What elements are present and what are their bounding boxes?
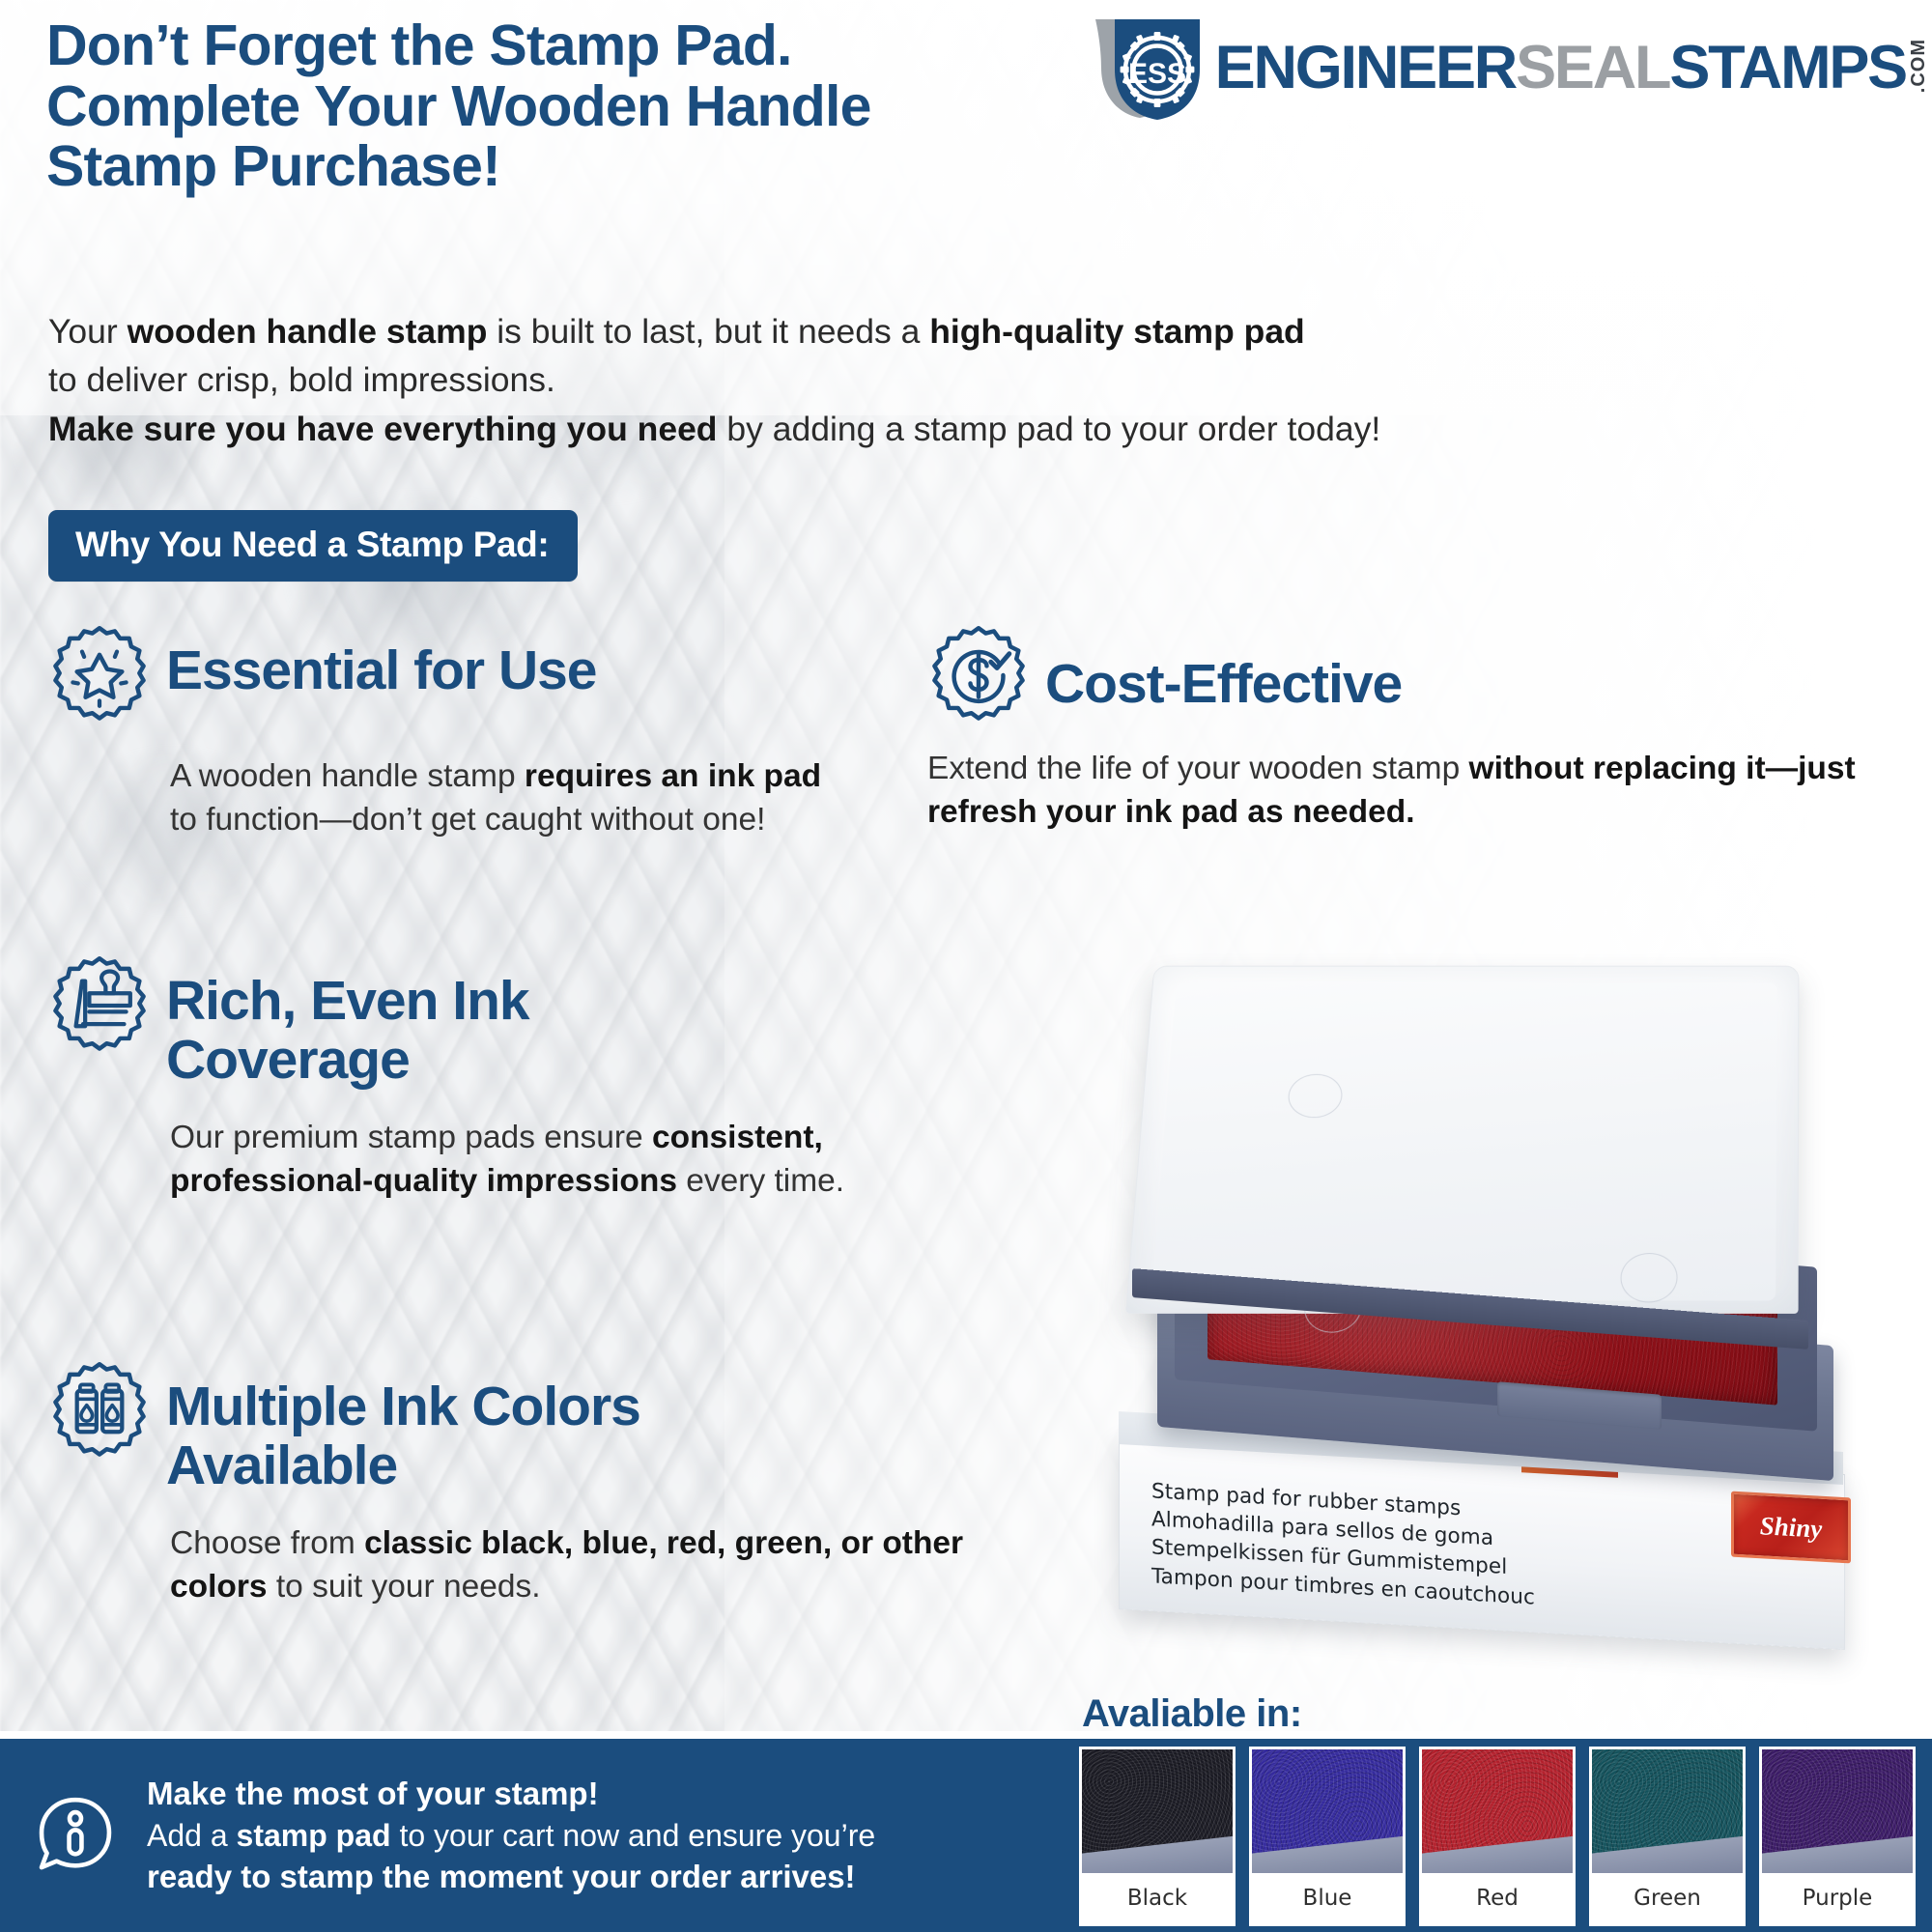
color-swatch-black[interactable]: Black: [1079, 1747, 1236, 1926]
color-swatch-blue[interactable]: Blue: [1249, 1747, 1406, 1926]
intro-paragraph: Your wooden handle stamp is built to las…: [48, 307, 1710, 453]
color-swatch-panel: Black Blue Red: [1065, 1739, 1932, 1932]
available-in-title: Avaliable in:: [1082, 1692, 1302, 1736]
feature-title: Essential for Use: [166, 624, 597, 700]
badge-rubber-stamp-icon: [48, 954, 151, 1057]
feature-body-c: to suit your needs.: [268, 1569, 541, 1605]
footer-line-2: Add a stamp pad to your cart now and ens…: [147, 1815, 875, 1856]
brand-logo[interactable]: ESS ENGINEERSEALSTAMPS.COM: [962, 14, 1928, 122]
feature-multiple-ink-colors: Multiple Ink Colors Available Choose fro…: [48, 1360, 1034, 1608]
swatch-color-chip: [1082, 1749, 1233, 1873]
logo-word-tld: .COM: [1909, 39, 1928, 93]
footer-line-3: ready to stamp the moment your order arr…: [147, 1856, 875, 1898]
swatch-color-chip: [1762, 1749, 1913, 1873]
logo-word-engineer: ENGINEER: [1215, 38, 1516, 99]
footer-text-b: stamp pad: [237, 1818, 391, 1853]
intro-text-a: Your: [48, 312, 128, 351]
feature-body: Choose from classic black, blue, red, gr…: [170, 1522, 1039, 1608]
swatch-label: Red: [1422, 1873, 1573, 1923]
feature-body: Our premium stamp pads ensure consistent…: [170, 1117, 846, 1203]
footer-text-a: Add a: [147, 1818, 237, 1853]
color-swatch-green[interactable]: Green: [1589, 1747, 1746, 1926]
feature-body-a: A wooden handle stamp: [170, 758, 525, 794]
feature-body: A wooden handle stamp requires an ink pa…: [170, 755, 837, 841]
swatch-color-chip: [1252, 1749, 1403, 1873]
feature-essential-for-use: Essential for Use A wooden handle stamp …: [48, 624, 860, 841]
intro-line-3: Make sure you have everything you need b…: [48, 405, 1710, 453]
footer-text-c: to your cart now and ensure you’re: [391, 1818, 876, 1853]
color-swatch-purple[interactable]: Purple: [1759, 1747, 1916, 1926]
brand-wordmark: ENGINEERSEALSTAMPS.COM: [1215, 38, 1928, 99]
feature-body-a: Our premium stamp pads ensure: [170, 1120, 652, 1155]
color-swatch-red[interactable]: Red: [1419, 1747, 1576, 1926]
badge-ink-bottles-icon: [48, 1360, 151, 1463]
feature-cost-effective: Cost-Effective Extend the life of your w…: [927, 624, 1903, 834]
feature-body-a: Choose from: [170, 1525, 364, 1561]
intro-text-c: is built to last, but it needs a: [487, 312, 929, 351]
feature-title: Multiple Ink Colors Available: [166, 1360, 881, 1495]
intro-text-e: Make sure you have everything you need: [48, 410, 718, 448]
logo-word-seal: SEAL: [1516, 38, 1669, 99]
intro-text-d: high-quality stamp pad: [929, 312, 1305, 351]
footer-line-1: Make the most of your stamp!: [147, 1773, 875, 1815]
swatch-color-chip: [1592, 1749, 1743, 1873]
logo-word-stamps: STAMPS: [1669, 38, 1906, 99]
shiny-brand-badge: Shiny: [1731, 1492, 1851, 1564]
intro-line-2: to deliver crisp, bold impressions.: [48, 355, 1710, 404]
badge-star-icon: [48, 624, 151, 726]
badge-dollar-check-icon: [927, 624, 1030, 726]
feature-body-b: requires an ink pad: [525, 758, 821, 794]
intro-line-1: Your wooden handle stamp is built to las…: [48, 307, 1710, 355]
swatch-color-chip: [1422, 1749, 1573, 1873]
swatch-label: Purple: [1762, 1873, 1913, 1923]
feature-body-c: every time.: [677, 1163, 844, 1199]
swatch-label: Blue: [1252, 1873, 1403, 1923]
feature-body: Extend the life of your wooden stamp wit…: [927, 748, 1893, 834]
ess-monogram: ESS: [1128, 58, 1186, 90]
swatch-label: Green: [1592, 1873, 1743, 1923]
feature-rich-even-ink-coverage: Rich, Even Ink Coverage Our premium stam…: [48, 954, 879, 1203]
info-speech-bubble-icon: [31, 1791, 120, 1880]
pad-lid-open: [1125, 966, 1799, 1314]
intro-text-b: wooden handle stamp: [128, 312, 488, 351]
ess-shield-gear-icon: ESS: [1092, 14, 1206, 122]
infographic-root: Don’t Forget the Stamp Pad. Complete You…: [0, 0, 1932, 1932]
feature-body-a: Extend the life of your wooden stamp: [927, 751, 1469, 786]
product-photo-stamp-pad: C-S Stamp pad for rubber stamps Almohadi…: [1082, 952, 1913, 1686]
section-banner-why-you-need: Why You Need a Stamp Pad:: [48, 510, 578, 582]
divider: [0, 1731, 1932, 1739]
footer-text: Make the most of your stamp! Add a stamp…: [147, 1773, 875, 1897]
color-swatch-row: Black Blue Red: [1079, 1747, 1916, 1926]
footer-call-to-action: Make the most of your stamp! Add a stamp…: [0, 1739, 1065, 1932]
feature-title: Cost-Effective: [1045, 638, 1402, 714]
feature-body-c: to function—don’t get caught without one…: [170, 802, 765, 838]
feature-title: Rich, Even Ink Coverage: [166, 954, 765, 1090]
intro-text-f: by adding a stamp pad to your order toda…: [718, 410, 1381, 448]
swatch-label: Black: [1082, 1873, 1233, 1923]
headline-line-3: Stamp Purchase!: [46, 136, 1206, 197]
